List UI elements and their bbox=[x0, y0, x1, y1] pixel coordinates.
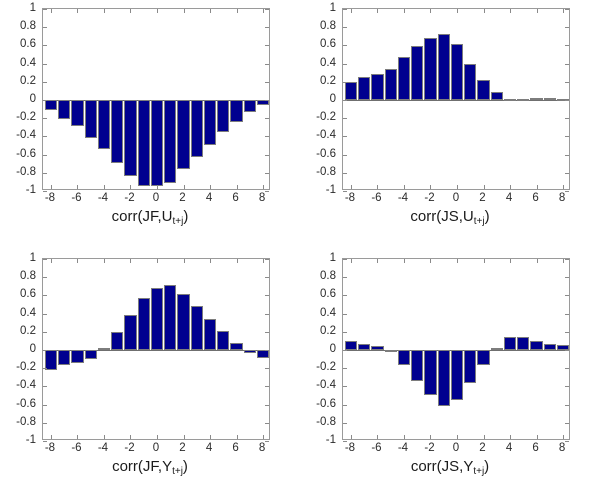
x-tick-mark bbox=[104, 259, 105, 263]
bar bbox=[517, 99, 529, 101]
x-tick-mark bbox=[51, 9, 52, 13]
bar bbox=[530, 98, 542, 100]
y-tick-mark bbox=[265, 173, 269, 174]
bar bbox=[345, 341, 357, 350]
x-tick-label: 8 bbox=[259, 442, 265, 454]
x-tick-mark bbox=[430, 259, 431, 263]
bar bbox=[217, 100, 229, 132]
y-tick-mark bbox=[343, 295, 347, 296]
y-tick-label: 0.2 bbox=[320, 76, 336, 86]
y-tick-mark bbox=[43, 100, 47, 101]
y-tick-mark bbox=[43, 295, 47, 296]
y-tick-mark bbox=[343, 27, 347, 28]
x-tick-label: 2 bbox=[179, 442, 185, 454]
x-tick-label: 4 bbox=[206, 192, 212, 204]
bar bbox=[204, 100, 216, 145]
caption-suffix: ) bbox=[485, 208, 490, 225]
x-tick-mark bbox=[457, 259, 458, 263]
y-tick-mark bbox=[343, 314, 347, 315]
y-tick-mark bbox=[265, 277, 269, 278]
y-tick-label: -1 bbox=[326, 185, 336, 195]
y-tick-mark bbox=[265, 118, 269, 119]
y-tick-mark bbox=[343, 82, 347, 83]
x-tick-mark bbox=[130, 185, 131, 189]
bar bbox=[71, 100, 83, 126]
y-tick-mark bbox=[43, 259, 47, 260]
plot-area-jf-u bbox=[42, 8, 270, 190]
x-tick-mark bbox=[77, 9, 78, 13]
x-tick-label: -8 bbox=[45, 442, 55, 454]
x-tick-mark bbox=[130, 259, 131, 263]
y-tick-label: 0.2 bbox=[320, 326, 336, 336]
y-tick-label: -0.6 bbox=[16, 399, 36, 409]
y-tick-label: 0.2 bbox=[20, 76, 36, 86]
x-tick-label: -4 bbox=[398, 442, 408, 454]
y-tick-label: 0 bbox=[30, 94, 36, 104]
y-tick-label: 0.4 bbox=[320, 308, 336, 318]
bar bbox=[177, 100, 189, 169]
bar bbox=[151, 288, 163, 350]
y-tick-label: -0.8 bbox=[316, 167, 336, 177]
x-tick-mark bbox=[157, 435, 158, 439]
bar bbox=[504, 337, 516, 350]
y-tick-mark bbox=[265, 64, 269, 65]
y-tick-mark bbox=[565, 45, 569, 46]
y-tick-mark bbox=[565, 27, 569, 28]
x-tick-label: 8 bbox=[559, 192, 565, 204]
x-tick-mark bbox=[377, 435, 378, 439]
y-tick-mark bbox=[343, 277, 347, 278]
x-tick-mark bbox=[130, 435, 131, 439]
y-tick-mark bbox=[265, 295, 269, 296]
x-tick-mark bbox=[430, 9, 431, 13]
x-tick-mark bbox=[77, 185, 78, 189]
bar bbox=[111, 332, 123, 350]
y-tick-mark bbox=[43, 173, 47, 174]
caption-prefix: corr(JS,Y bbox=[411, 458, 474, 475]
bar bbox=[371, 346, 383, 350]
y-tick-mark bbox=[343, 155, 347, 156]
x-tick-mark bbox=[404, 259, 405, 263]
bar bbox=[204, 319, 216, 350]
plot-area-js-y bbox=[342, 258, 570, 440]
x-tick-label: 4 bbox=[506, 442, 512, 454]
y-tick-label: 0.2 bbox=[20, 326, 36, 336]
bar bbox=[464, 64, 476, 100]
x-tick-mark bbox=[77, 259, 78, 263]
y-tick-mark bbox=[265, 136, 269, 137]
x-tick-label: 2 bbox=[479, 442, 485, 454]
x-tick-mark bbox=[563, 9, 564, 13]
caption-subscript: t+j bbox=[473, 466, 484, 477]
bar bbox=[58, 350, 70, 365]
bar bbox=[491, 348, 503, 350]
bar bbox=[438, 350, 450, 406]
y-tick-label: -0.6 bbox=[316, 149, 336, 159]
y-tick-mark bbox=[343, 259, 347, 260]
y-tick-mark bbox=[565, 368, 569, 369]
y-tick-label: -0.4 bbox=[16, 130, 36, 140]
x-tick-label: 6 bbox=[532, 442, 538, 454]
x-tick-label: 6 bbox=[232, 192, 238, 204]
x-tick-mark bbox=[104, 185, 105, 189]
x-tick-mark bbox=[184, 185, 185, 189]
x-tick-label: 2 bbox=[179, 192, 185, 204]
bar bbox=[58, 100, 70, 119]
y-tick-label: -1 bbox=[26, 435, 36, 445]
y-tick-label: 0 bbox=[330, 94, 336, 104]
bar bbox=[230, 100, 242, 122]
y-tick-mark bbox=[43, 45, 47, 46]
y-tick-mark bbox=[43, 314, 47, 315]
caption-suffix: ) bbox=[484, 458, 489, 475]
y-tick-mark bbox=[43, 368, 47, 369]
y-tick-mark bbox=[565, 118, 569, 119]
y-tick-mark bbox=[343, 423, 347, 424]
bar-series bbox=[43, 259, 269, 439]
y-tick-label: -0.2 bbox=[316, 112, 336, 122]
y-tick-mark bbox=[265, 386, 269, 387]
y-axis-labels: 10.80.60.40.20-0.2-0.4-0.6-0.8-1 bbox=[0, 250, 40, 440]
y-tick-mark bbox=[265, 82, 269, 83]
bar bbox=[411, 46, 423, 100]
plot-area-js-u bbox=[342, 8, 570, 190]
x-tick-mark bbox=[263, 9, 264, 13]
y-tick-mark bbox=[265, 332, 269, 333]
bar bbox=[504, 99, 516, 101]
bar bbox=[451, 350, 463, 400]
bar bbox=[411, 350, 423, 381]
x-tick-mark bbox=[404, 185, 405, 189]
y-axis-labels: 10.80.60.40.20-0.2-0.4-0.6-0.8-1 bbox=[300, 0, 340, 190]
caption-subscript: t+j bbox=[172, 466, 183, 477]
x-tick-label: -2 bbox=[424, 442, 434, 454]
y-tick-mark bbox=[565, 136, 569, 137]
y-tick-mark bbox=[265, 259, 269, 260]
x-tick-mark bbox=[377, 185, 378, 189]
bar bbox=[164, 100, 176, 183]
x-tick-mark bbox=[263, 185, 264, 189]
x-tick-mark bbox=[563, 435, 564, 439]
bar bbox=[230, 343, 242, 350]
x-tick-mark bbox=[263, 435, 264, 439]
x-tick-mark bbox=[377, 9, 378, 13]
x-tick-mark bbox=[430, 435, 431, 439]
y-tick-mark bbox=[565, 155, 569, 156]
x-tick-label: -8 bbox=[345, 442, 355, 454]
x-tick-mark bbox=[237, 9, 238, 13]
y-tick-mark bbox=[43, 136, 47, 137]
x-tick-label: 0 bbox=[453, 192, 459, 204]
y-tick-label: -0.4 bbox=[16, 380, 36, 390]
bar bbox=[544, 98, 556, 100]
caption-prefix: corr(JS,U bbox=[410, 208, 473, 225]
x-tick-mark bbox=[404, 9, 405, 13]
bar bbox=[244, 100, 256, 112]
bar bbox=[451, 44, 463, 100]
x-tick-label: 0 bbox=[153, 192, 159, 204]
bar bbox=[544, 344, 556, 350]
x-tick-mark bbox=[351, 435, 352, 439]
y-tick-mark bbox=[565, 405, 569, 406]
x-tick-mark bbox=[157, 259, 158, 263]
y-tick-label: -0.4 bbox=[316, 130, 336, 140]
bar bbox=[530, 341, 542, 350]
y-tick-mark bbox=[265, 350, 269, 351]
x-tick-label: 2 bbox=[479, 192, 485, 204]
x-tick-label: 8 bbox=[259, 192, 265, 204]
y-tick-mark bbox=[343, 368, 347, 369]
x-tick-label: -6 bbox=[371, 192, 381, 204]
x-tick-mark bbox=[404, 435, 405, 439]
x-tick-mark bbox=[210, 9, 211, 13]
y-tick-mark bbox=[343, 173, 347, 174]
bar bbox=[371, 74, 383, 100]
caption-prefix: corr(JF,U bbox=[112, 208, 173, 225]
x-tick-mark bbox=[104, 9, 105, 13]
bar bbox=[358, 344, 370, 350]
y-tick-mark bbox=[265, 423, 269, 424]
y-tick-label: 0.6 bbox=[320, 39, 336, 49]
y-tick-mark bbox=[265, 100, 269, 101]
caption-suffix: ) bbox=[183, 208, 188, 225]
x-tick-mark bbox=[484, 185, 485, 189]
caption-prefix: corr(JF,Y bbox=[112, 458, 172, 475]
x-tick-label: -2 bbox=[424, 192, 434, 204]
y-tick-mark bbox=[43, 64, 47, 65]
bar bbox=[385, 69, 397, 100]
y-tick-label: 0.4 bbox=[20, 58, 36, 68]
y-tick-mark bbox=[565, 350, 569, 351]
bar bbox=[464, 350, 476, 383]
x-axis-caption-jf-y: corr(JF,Yt+j) bbox=[0, 458, 300, 475]
y-tick-label: 0.6 bbox=[20, 39, 36, 49]
bar bbox=[124, 100, 136, 176]
x-tick-label: -2 bbox=[124, 442, 134, 454]
x-tick-label: 4 bbox=[506, 192, 512, 204]
y-tick-mark bbox=[43, 82, 47, 83]
y-tick-label: 1 bbox=[30, 253, 36, 263]
bar-series bbox=[343, 259, 569, 439]
x-tick-label: -4 bbox=[398, 192, 408, 204]
x-tick-mark bbox=[537, 185, 538, 189]
y-tick-mark bbox=[43, 386, 47, 387]
x-tick-mark bbox=[77, 435, 78, 439]
x-tick-mark bbox=[237, 435, 238, 439]
x-tick-label: -8 bbox=[345, 192, 355, 204]
x-tick-label: 6 bbox=[532, 192, 538, 204]
y-tick-label: -0.8 bbox=[16, 417, 36, 427]
bar bbox=[385, 350, 397, 352]
bar bbox=[257, 350, 269, 358]
x-tick-mark bbox=[510, 9, 511, 13]
x-tick-mark bbox=[430, 185, 431, 189]
x-tick-mark bbox=[184, 9, 185, 13]
x-tick-label: -8 bbox=[45, 192, 55, 204]
x-tick-mark bbox=[184, 259, 185, 263]
bar bbox=[491, 92, 503, 100]
x-tick-mark bbox=[51, 185, 52, 189]
bar bbox=[138, 298, 150, 350]
y-tick-mark bbox=[43, 423, 47, 424]
bar bbox=[98, 100, 110, 149]
bar bbox=[124, 315, 136, 350]
x-tick-label: 6 bbox=[232, 442, 238, 454]
correlation-figure: 10.80.60.40.20-0.2-0.4-0.6-0.8-1-8-6-4-2… bbox=[0, 0, 600, 500]
x-tick-mark bbox=[263, 259, 264, 263]
x-tick-mark bbox=[563, 185, 564, 189]
caption-subscript: t+j bbox=[172, 216, 183, 227]
bar bbox=[111, 100, 123, 163]
y-tick-mark bbox=[265, 9, 269, 10]
x-tick-mark bbox=[237, 185, 238, 189]
y-tick-mark bbox=[265, 45, 269, 46]
bar bbox=[191, 306, 203, 350]
x-tick-mark bbox=[537, 259, 538, 263]
y-tick-mark bbox=[343, 386, 347, 387]
bar bbox=[45, 350, 57, 370]
bar bbox=[398, 350, 410, 365]
panel-js-y: 10.80.60.40.20-0.2-0.4-0.6-0.8-1-8-6-4-2… bbox=[300, 250, 600, 500]
y-tick-label: -0.2 bbox=[16, 362, 36, 372]
x-tick-label: -4 bbox=[98, 192, 108, 204]
caption-subscript: t+j bbox=[474, 216, 485, 227]
y-tick-mark bbox=[343, 64, 347, 65]
x-tick-label: -6 bbox=[71, 192, 81, 204]
y-tick-mark bbox=[565, 9, 569, 10]
panel-js-u: 10.80.60.40.20-0.2-0.4-0.6-0.8-1-8-6-4-2… bbox=[300, 0, 600, 250]
x-tick-mark bbox=[184, 435, 185, 439]
x-tick-mark bbox=[157, 185, 158, 189]
y-tick-label: -0.4 bbox=[316, 380, 336, 390]
x-tick-label: -2 bbox=[124, 192, 134, 204]
y-tick-mark bbox=[565, 295, 569, 296]
y-tick-label: -0.8 bbox=[316, 417, 336, 427]
y-tick-mark bbox=[265, 314, 269, 315]
bar bbox=[517, 337, 529, 350]
y-tick-mark bbox=[565, 64, 569, 65]
bar bbox=[164, 285, 176, 350]
panel-jf-u: 10.80.60.40.20-0.2-0.4-0.6-0.8-1-8-6-4-2… bbox=[0, 0, 300, 250]
y-axis-labels: 10.80.60.40.20-0.2-0.4-0.6-0.8-1 bbox=[0, 0, 40, 190]
x-tick-mark bbox=[457, 9, 458, 13]
x-tick-mark bbox=[484, 259, 485, 263]
x-axis-caption-jf-u: corr(JF,Ut+j) bbox=[0, 208, 300, 225]
bar bbox=[177, 294, 189, 350]
y-tick-label: 0 bbox=[30, 344, 36, 354]
y-tick-label: 0.4 bbox=[20, 308, 36, 318]
y-tick-mark bbox=[565, 314, 569, 315]
bar bbox=[151, 100, 163, 186]
x-tick-mark bbox=[537, 9, 538, 13]
y-tick-mark bbox=[343, 100, 347, 101]
y-tick-mark bbox=[43, 350, 47, 351]
x-tick-mark bbox=[210, 259, 211, 263]
y-tick-mark bbox=[265, 27, 269, 28]
y-tick-label: 1 bbox=[330, 253, 336, 263]
y-tick-mark bbox=[43, 332, 47, 333]
y-tick-mark bbox=[343, 332, 347, 333]
bar bbox=[345, 82, 357, 100]
y-tick-mark bbox=[565, 332, 569, 333]
bar bbox=[138, 100, 150, 186]
x-tick-label: 4 bbox=[206, 442, 212, 454]
x-tick-mark bbox=[351, 185, 352, 189]
y-tick-label: 1 bbox=[330, 3, 336, 13]
y-tick-mark bbox=[43, 155, 47, 156]
y-tick-mark bbox=[565, 173, 569, 174]
y-tick-mark bbox=[565, 82, 569, 83]
x-tick-mark bbox=[130, 9, 131, 13]
bar bbox=[98, 348, 110, 350]
bar bbox=[424, 38, 436, 100]
x-tick-mark bbox=[510, 185, 511, 189]
y-tick-label: 1 bbox=[30, 3, 36, 13]
x-tick-mark bbox=[510, 259, 511, 263]
y-tick-mark bbox=[43, 27, 47, 28]
x-tick-mark bbox=[51, 259, 52, 263]
y-tick-label: 0.8 bbox=[20, 21, 36, 31]
y-tick-mark bbox=[565, 423, 569, 424]
x-tick-label: -4 bbox=[98, 442, 108, 454]
y-tick-mark bbox=[343, 350, 347, 351]
y-tick-mark bbox=[43, 405, 47, 406]
x-tick-mark bbox=[104, 435, 105, 439]
y-tick-label: 0.4 bbox=[320, 58, 336, 68]
x-axis-caption-js-y: corr(JS,Yt+j) bbox=[300, 458, 600, 475]
bar-series bbox=[43, 9, 269, 189]
y-tick-label: -0.8 bbox=[16, 167, 36, 177]
y-tick-mark bbox=[43, 277, 47, 278]
y-tick-mark bbox=[43, 118, 47, 119]
y-tick-label: 0.6 bbox=[20, 289, 36, 299]
y-tick-mark bbox=[343, 45, 347, 46]
y-tick-mark bbox=[565, 100, 569, 101]
x-tick-label: -6 bbox=[371, 442, 381, 454]
x-tick-label: 0 bbox=[453, 442, 459, 454]
y-tick-label: -1 bbox=[26, 185, 36, 195]
bar bbox=[244, 350, 256, 353]
x-tick-mark bbox=[51, 435, 52, 439]
y-tick-label: -0.6 bbox=[316, 399, 336, 409]
y-tick-mark bbox=[343, 118, 347, 119]
y-tick-label: 0.8 bbox=[320, 21, 336, 31]
x-tick-mark bbox=[537, 435, 538, 439]
x-tick-mark bbox=[484, 9, 485, 13]
bar bbox=[424, 350, 436, 395]
bar bbox=[217, 331, 229, 350]
bar bbox=[358, 77, 370, 100]
x-tick-mark bbox=[351, 9, 352, 13]
x-tick-label: -6 bbox=[71, 442, 81, 454]
y-tick-mark bbox=[565, 277, 569, 278]
bar bbox=[477, 350, 489, 365]
y-tick-label: 0.6 bbox=[320, 289, 336, 299]
x-tick-mark bbox=[237, 259, 238, 263]
y-tick-mark bbox=[565, 259, 569, 260]
x-tick-mark bbox=[351, 259, 352, 263]
y-tick-mark bbox=[43, 9, 47, 10]
bar bbox=[477, 80, 489, 100]
bar bbox=[85, 350, 97, 359]
x-tick-mark bbox=[377, 259, 378, 263]
bar bbox=[45, 100, 57, 110]
bar bbox=[71, 350, 83, 363]
x-tick-mark bbox=[457, 435, 458, 439]
y-axis-labels: 10.80.60.40.20-0.2-0.4-0.6-0.8-1 bbox=[300, 250, 340, 440]
y-tick-mark bbox=[265, 155, 269, 156]
panel-jf-y: 10.80.60.40.20-0.2-0.4-0.6-0.8-1-8-6-4-2… bbox=[0, 250, 300, 500]
